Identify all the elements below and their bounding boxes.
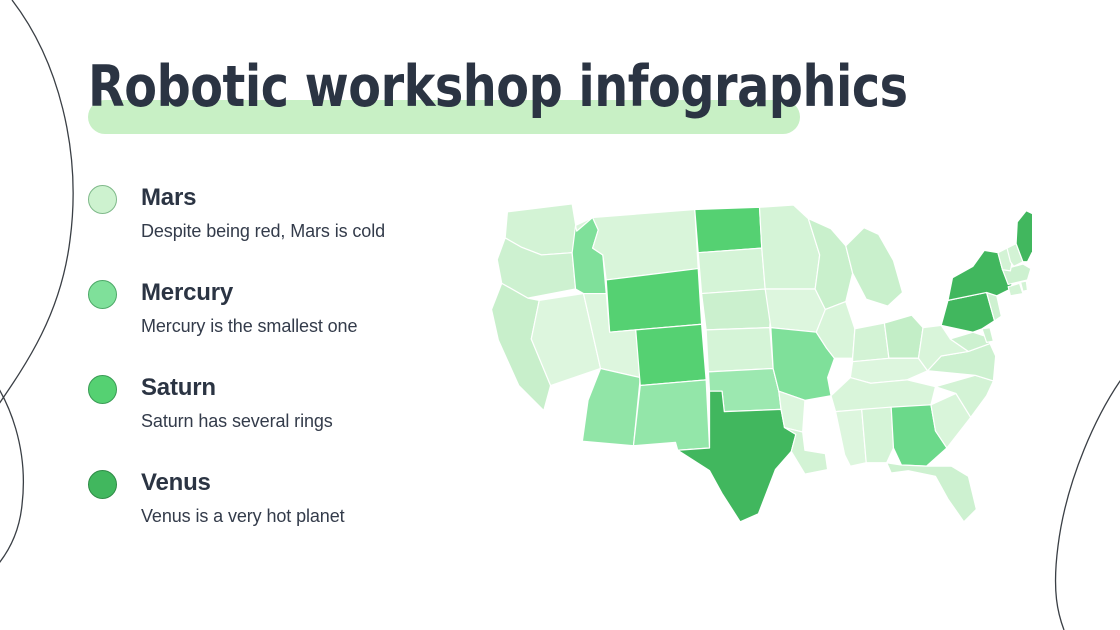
map-svg <box>487 196 1032 541</box>
legend-swatch-venus <box>88 470 117 499</box>
state-FL <box>887 463 977 522</box>
state-MS <box>836 409 867 466</box>
page-title-wrapper: Robotic workshop infographics <box>88 52 969 122</box>
legend-item-venus[interactable]: Venus Venus is a very hot planet <box>88 467 488 541</box>
slide: Robotic workshop infographics Mars Despi… <box>0 0 1120 630</box>
legend-item-description: Venus is a very hot planet <box>141 504 488 528</box>
state-MN <box>760 205 820 289</box>
legend-item-description: Mercury is the smallest one <box>141 314 488 338</box>
state-IA <box>765 289 825 332</box>
legend-item-label: Saturn <box>141 372 488 403</box>
state-KS <box>706 328 773 372</box>
legend-item-description: Saturn has several rings <box>141 409 488 433</box>
legend-swatch-mercury <box>88 280 117 309</box>
legend-item-mercury[interactable]: Mercury Mercury is the smallest one <box>88 277 488 351</box>
state-KY <box>850 358 927 383</box>
state-SD <box>698 248 765 293</box>
legend-list: Mars Despite being red, Mars is cold Mer… <box>88 182 488 562</box>
state-MI <box>846 228 903 306</box>
state-IN <box>853 323 889 362</box>
page-title: Robotic workshop infographics <box>88 52 908 122</box>
legend-item-label: Mercury <box>141 277 488 308</box>
state-WY <box>606 269 701 333</box>
legend-item-saturn[interactable]: Saturn Saturn has several rings <box>88 372 488 446</box>
state-NM <box>633 380 709 450</box>
legend-item-mars[interactable]: Mars Despite being red, Mars is cold <box>88 182 488 256</box>
state-OH <box>884 315 923 358</box>
state-AL <box>862 407 894 463</box>
legend-swatch-saturn <box>88 375 117 404</box>
state-CO <box>636 324 706 385</box>
legend-item-label: Venus <box>141 467 488 498</box>
legend-item-description: Despite being red, Mars is cold <box>141 219 488 243</box>
state-AZ <box>582 369 640 446</box>
legend-swatch-mars <box>88 185 117 214</box>
legend-item-label: Mars <box>141 182 488 213</box>
state-NE <box>702 289 771 330</box>
us-choropleth-map <box>487 196 1032 541</box>
map-states <box>492 204 1032 522</box>
state-ND <box>695 207 762 252</box>
